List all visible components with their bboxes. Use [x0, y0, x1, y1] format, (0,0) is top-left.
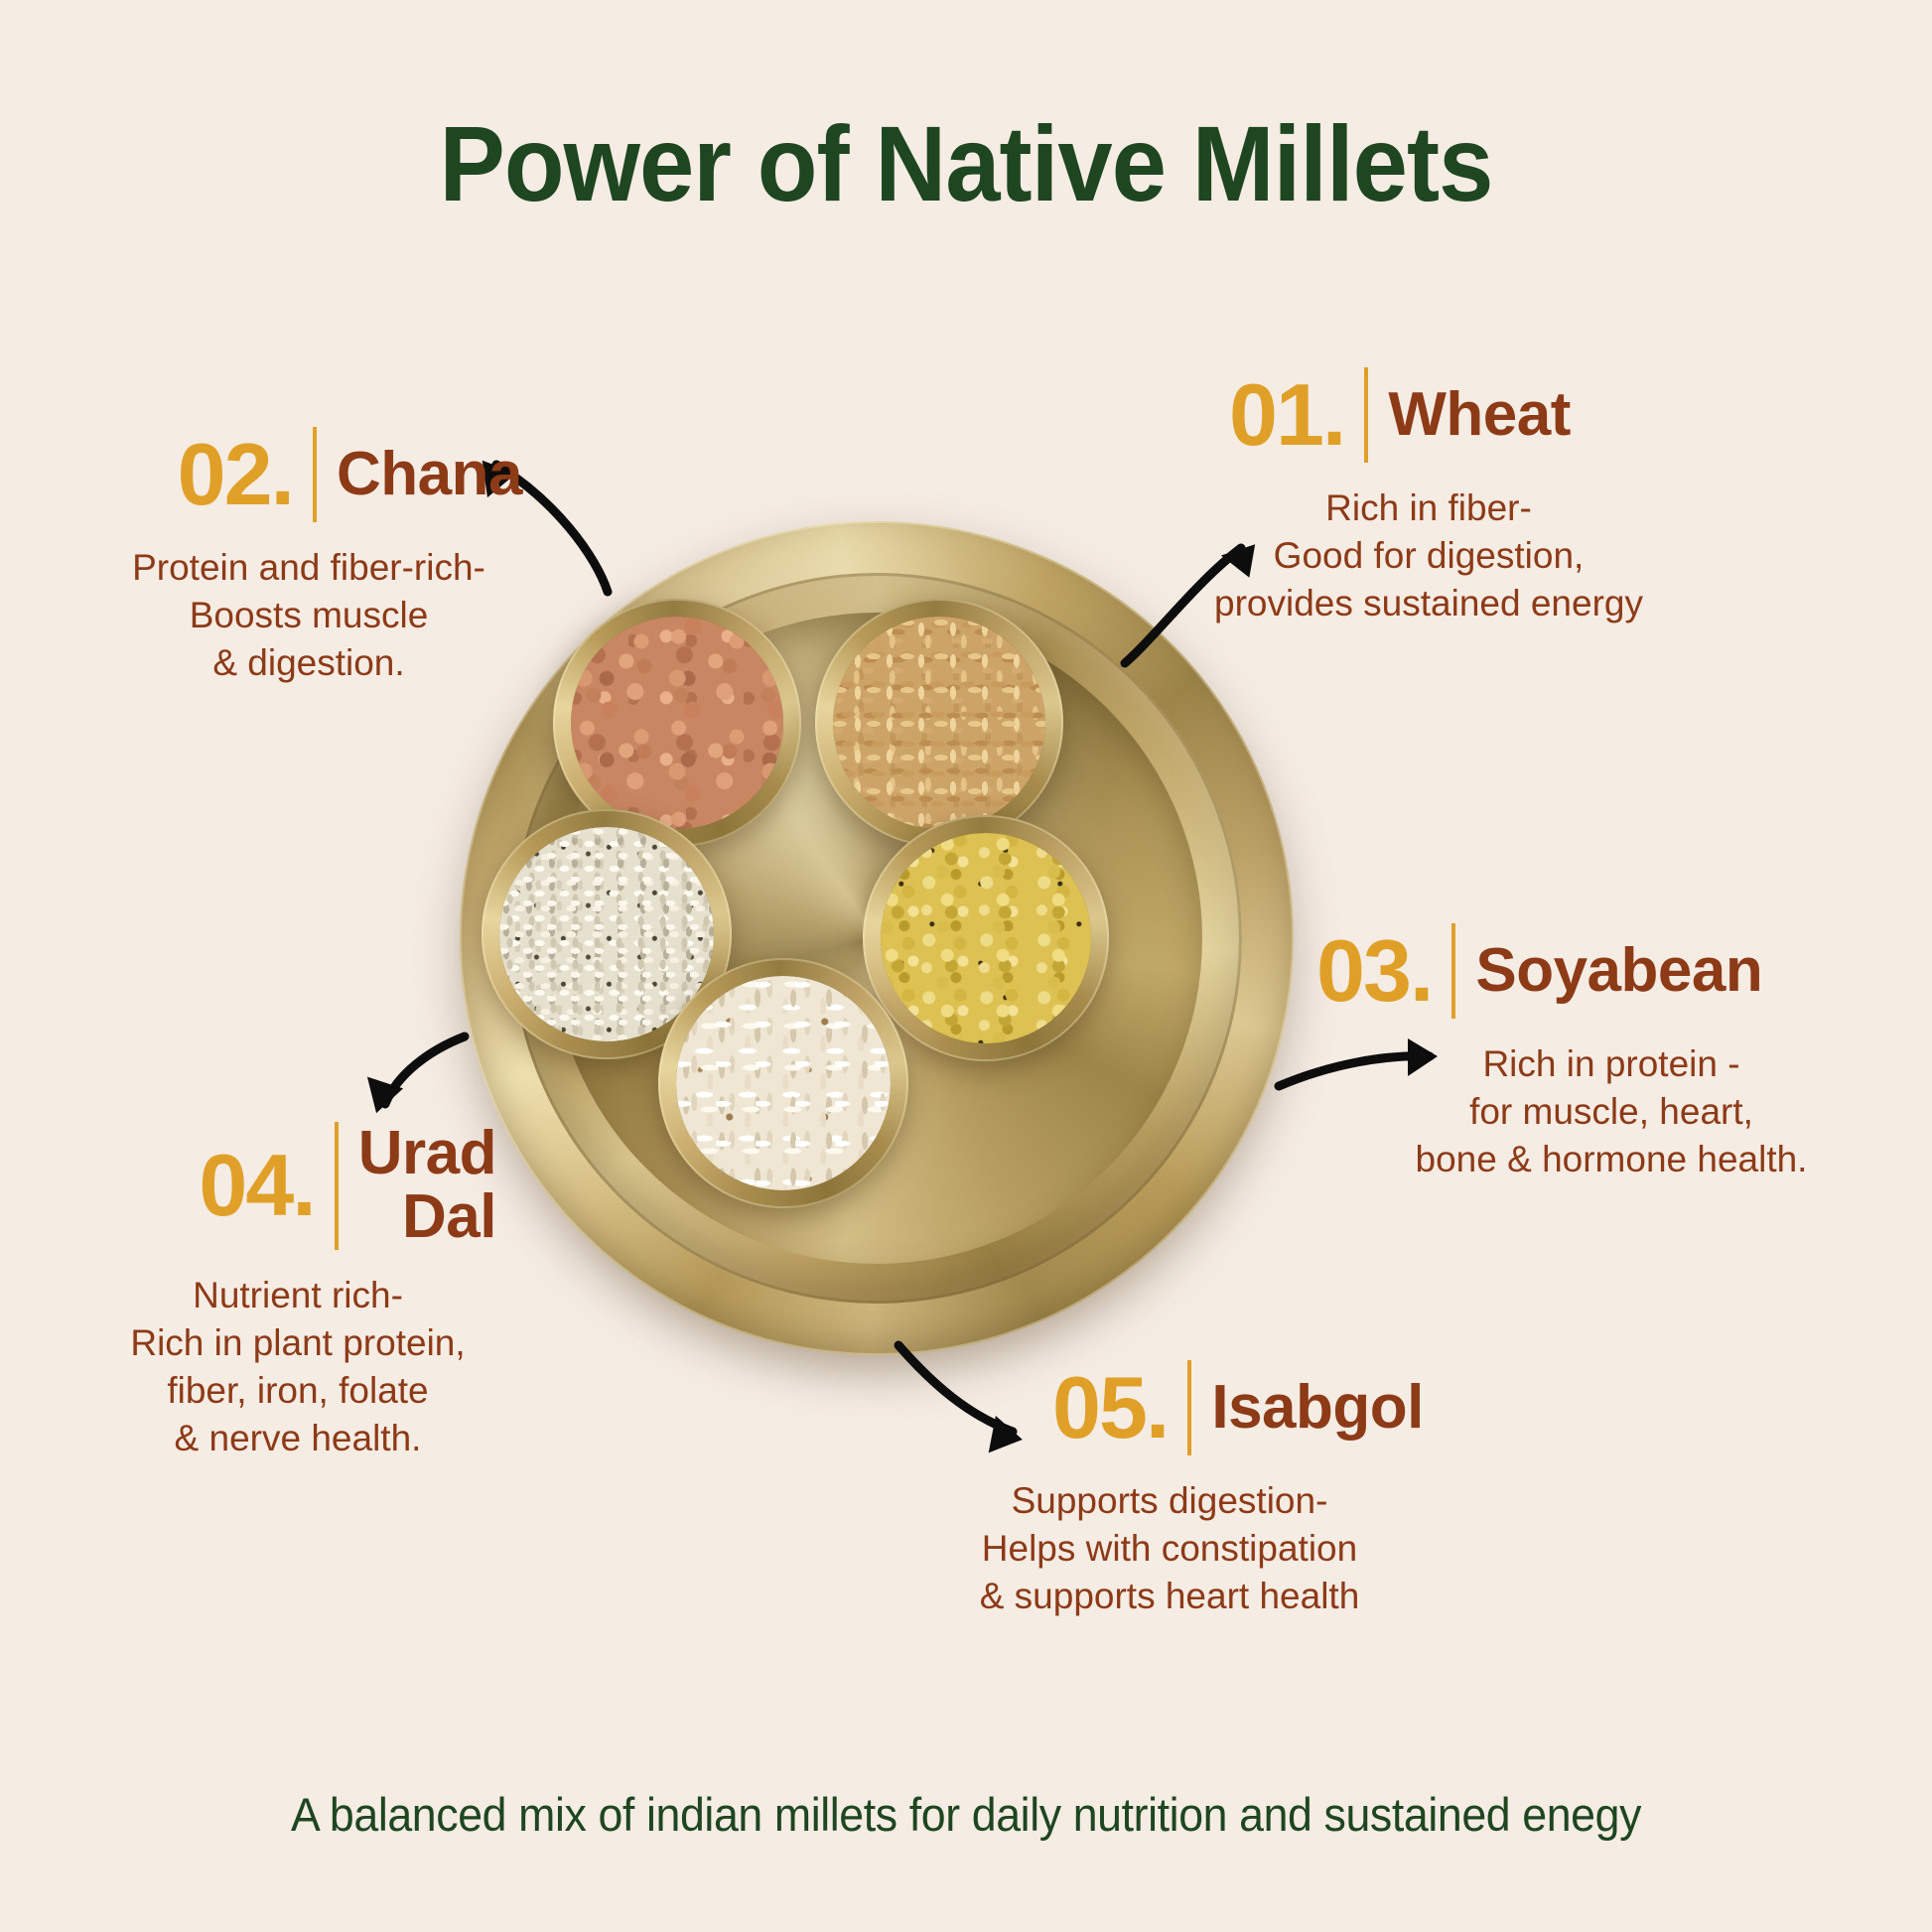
bowl-chana-inner [571, 617, 783, 829]
callout-chana: 02. Chana Protein and fiber-rich- Boosts… [95, 427, 522, 687]
chana-grains-icon [571, 617, 783, 829]
callout-chana-head: 02. Chana [95, 427, 522, 522]
callout-wheat-description: Rich in fiber- Good for digestion, provi… [1195, 484, 1662, 627]
callout-isabgol-number: 05. [1052, 1364, 1168, 1451]
callout-wheat-number: 01. [1229, 371, 1344, 459]
callout-wheat-name: Wheat [1388, 383, 1571, 447]
callout-soyabean-number: 03. [1316, 927, 1432, 1015]
callout-chana-divider [313, 427, 317, 522]
callout-urad-dal-divider [335, 1122, 339, 1250]
callout-chana-description: Protein and fiber-rich- Boosts muscle & … [95, 544, 522, 687]
callout-isabgol: 05. Isabgol Supports digestion- Helps wi… [1052, 1360, 1424, 1620]
callout-wheat-head: 01. Wheat [1229, 367, 1662, 463]
callout-urad-dal: 04. Urad Dal Nutrient rich- Rich in plan… [99, 1122, 496, 1462]
thali-plate-image [460, 521, 1294, 1355]
soyabean-grains-icon [881, 833, 1091, 1043]
infographic-canvas: Power of Native Millets [0, 0, 1932, 1932]
bowl-isabgol [658, 958, 908, 1208]
callout-isabgol-head: 05. Isabgol [1052, 1360, 1424, 1455]
callout-soyabean-name: Soyabean [1475, 939, 1762, 1003]
callout-soyabean-head: 03. Soyabean [1316, 923, 1825, 1019]
callout-wheat-divider [1364, 367, 1368, 463]
callout-soyabean: 03. Soyabean Rich in protein - for muscl… [1316, 923, 1825, 1183]
callout-urad-dal-name: Urad Dal [358, 1122, 496, 1250]
isabgol-husk-icon [676, 976, 891, 1190]
bowl-isabgol-inner [676, 976, 891, 1190]
callout-urad-dal-description: Nutrient rich- Rich in plant protein, fi… [99, 1272, 496, 1462]
wheat-grains-icon [833, 617, 1045, 829]
callout-isabgol-description: Supports digestion- Helps with constipat… [961, 1477, 1378, 1620]
callout-isabgol-divider [1187, 1360, 1191, 1455]
callout-wheat: 01. Wheat Rich in fiber- Good for digest… [1229, 367, 1662, 627]
footer-tagline: A balanced mix of indian millets for dai… [49, 1787, 1884, 1842]
callout-isabgol-name: Isabgol [1211, 1376, 1424, 1440]
arrowhead-urad-dal [357, 1077, 403, 1119]
callout-chana-number: 02. [178, 431, 293, 518]
arrow-urad-dal [385, 1036, 465, 1104]
bowl-wheat [815, 599, 1063, 847]
arrowhead-isabgol [989, 1416, 1026, 1457]
callout-soyabean-divider [1451, 923, 1455, 1019]
callout-soyabean-description: Rich in protein - for muscle, heart, bon… [1398, 1040, 1825, 1183]
callout-urad-dal-head: 04. Urad Dal [99, 1122, 496, 1250]
page-title: Power of Native Millets [77, 107, 1855, 219]
callout-urad-dal-number: 04. [199, 1142, 314, 1229]
bowl-soyabean-inner [881, 833, 1091, 1043]
bowl-wheat-inner [833, 617, 1045, 829]
bowl-soyabean [863, 815, 1109, 1061]
callout-chana-name: Chana [337, 443, 522, 506]
